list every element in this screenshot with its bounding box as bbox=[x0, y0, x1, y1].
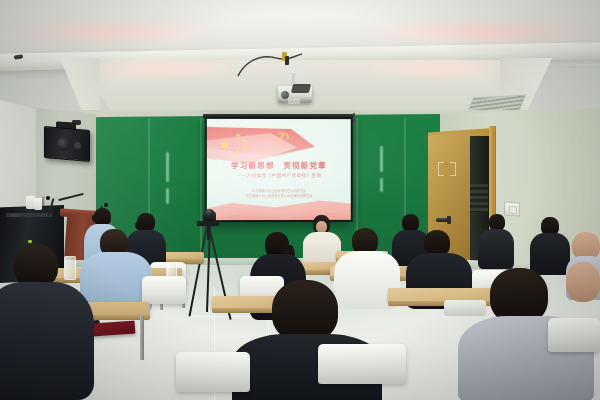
desk-leg bbox=[140, 316, 144, 360]
attendee-hair bbox=[272, 280, 338, 342]
projector-cable bbox=[236, 52, 306, 78]
slide-organization: 中共湖南人仂七级有限责任公司委员会 中共湖南人仂七级有限责任公司纪律检查委员会 bbox=[207, 189, 351, 199]
chair-back bbox=[176, 352, 250, 392]
cove-light-right bbox=[368, 24, 600, 40]
chair-back bbox=[548, 318, 600, 352]
attendee-hair-bun bbox=[92, 214, 100, 222]
screen-pull-cord[interactable] bbox=[353, 113, 355, 123]
cable-clip-secondary-icon bbox=[285, 56, 289, 65]
tripod-head bbox=[197, 221, 219, 226]
rack-power-button[interactable] bbox=[10, 214, 20, 217]
projector-cable-loop bbox=[291, 84, 311, 93]
light-switch-plate[interactable] bbox=[504, 201, 520, 216]
attendee-face bbox=[566, 262, 600, 302]
chair-back bbox=[318, 344, 406, 384]
rack-status-led-icon bbox=[28, 240, 32, 243]
chair-back bbox=[142, 276, 186, 304]
slide-subtitle: ——人仂集团《中国共产党章程》宣讲 bbox=[207, 173, 351, 179]
slide-title: 学习新思想 贯彻新党章 bbox=[207, 160, 351, 171]
inner-cove-light-right bbox=[366, 64, 516, 75]
inner-cove-light-left bbox=[84, 64, 234, 75]
projector-light-spill bbox=[288, 98, 300, 104]
slide-org-line-2: 中共湖南人仂七级有限责任公司纪律检查委员会 bbox=[207, 194, 351, 199]
photo-scene: ★ ★ ★ ★ ★ 学习新思想 贯彻新党章 ——人仂集团《中国共产党章程》宣讲 … bbox=[0, 0, 600, 400]
speaker-woofer-icon bbox=[57, 137, 70, 151]
podium-microphone-head-icon bbox=[104, 203, 108, 207]
door-handle-icon[interactable] bbox=[436, 218, 451, 222]
attendee-hair-bun bbox=[135, 221, 144, 230]
attendee-dark-polo bbox=[0, 282, 94, 400]
attendee-top bbox=[530, 233, 570, 275]
ceiling-lip-left bbox=[60, 58, 100, 118]
projector-ceiling-bracket bbox=[279, 66, 308, 73]
green-wall-highlight bbox=[380, 146, 383, 172]
attendee-top bbox=[478, 229, 514, 269]
chinese-flag-stars-icon: ★ ★ ★ ★ ★ bbox=[219, 133, 263, 155]
speaker-tweeter-icon bbox=[74, 142, 81, 150]
door-sign-holder bbox=[438, 162, 456, 176]
green-wall-highlight bbox=[380, 178, 383, 192]
projection-screen: ★ ★ ★ ★ ★ 学习新思想 贯彻新党章 ——人仂集团《中国共产党章程》宣讲 … bbox=[205, 117, 353, 222]
chair-seat bbox=[444, 300, 486, 316]
slide-surface: ★ ★ ★ ★ ★ 学习新思想 贯彻新党章 ——人仂集团《中国共产党章程》宣讲 … bbox=[207, 119, 351, 220]
cove-light-left bbox=[0, 24, 212, 40]
water-bottle bbox=[64, 256, 76, 280]
microphone-head-icon bbox=[46, 196, 50, 200]
green-wall-highlight bbox=[166, 152, 169, 182]
paper-cup bbox=[34, 198, 42, 210]
tripod-center-column bbox=[207, 224, 210, 240]
camera-lens-icon bbox=[205, 209, 214, 215]
cpc-emblem-icon bbox=[273, 128, 293, 148]
wall-speaker bbox=[44, 126, 90, 162]
green-wall-highlight bbox=[166, 188, 169, 204]
